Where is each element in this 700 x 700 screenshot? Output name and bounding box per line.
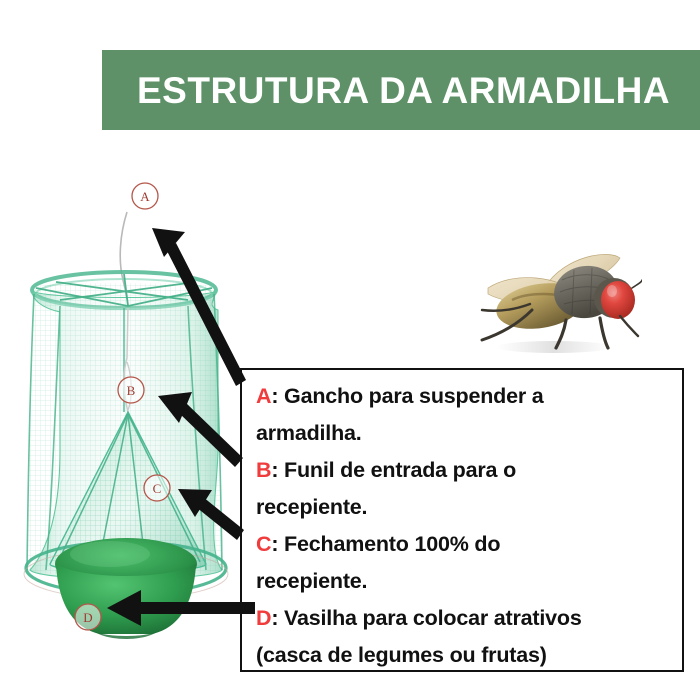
fly-antennae <box>632 280 642 288</box>
legend-text-a2: armadilha. <box>256 421 362 445</box>
legend-line-a2: armadilha. <box>256 415 678 452</box>
legend-text-b2: recepiente. <box>256 495 367 519</box>
marker-D: D <box>75 604 101 630</box>
fly-trap-illustration: A B C D <box>0 150 260 670</box>
legend-text-d2: (casca de legumes ou frutas) <box>256 643 547 667</box>
header-banner: ESTRUTURA DA ARMADILHA <box>102 50 700 130</box>
fly-shadow <box>496 341 612 353</box>
legend-key-d: D <box>256 606 271 630</box>
legend-line-d2: (casca de legumes ou frutas) <box>256 637 678 674</box>
legend-line-c1: C: Fechamento 100% do <box>256 526 678 563</box>
legend-key-b: B <box>256 458 271 482</box>
svg-text:A: A <box>140 189 150 204</box>
legend-text-b1: : Funil de entrada para o <box>271 458 516 482</box>
legend-key-a: A <box>256 384 271 408</box>
marker-A: A <box>132 183 158 209</box>
legend-line-b2: recepiente. <box>256 489 678 526</box>
poster-canvas: ESTRUTURA DA ARMADILHA <box>0 0 700 700</box>
page-title: ESTRUTURA DA ARMADILHA <box>137 72 670 109</box>
marker-B: B <box>118 377 144 403</box>
legend-line-c2: recepiente. <box>256 563 678 600</box>
fly-eye <box>601 281 635 319</box>
legend-text-a1: : Gancho para suspender a <box>271 384 543 408</box>
legend-line-b1: B: Funil de entrada para o <box>256 452 678 489</box>
legend-text-c2: recepiente. <box>256 569 367 593</box>
svg-text:B: B <box>127 383 136 398</box>
svg-text:C: C <box>153 481 162 496</box>
marker-C: C <box>144 475 170 501</box>
legend-line-a1: A: Gancho para suspender a <box>256 378 678 415</box>
legend-text-c1: : Fechamento 100% do <box>271 532 500 556</box>
legend-panel: A: Gancho para suspender a armadilha. B:… <box>240 368 684 672</box>
fly-eye-highlight <box>607 285 617 297</box>
svg-text:D: D <box>83 610 92 625</box>
bait-bowl-highlight <box>70 541 150 567</box>
housefly-image <box>462 248 642 360</box>
legend-line-d1: D: Vasilha para colocar atrativos <box>256 600 678 637</box>
legend-text-d1: : Vasilha para colocar atrativos <box>271 606 581 630</box>
legend-key-c: C <box>256 532 271 556</box>
